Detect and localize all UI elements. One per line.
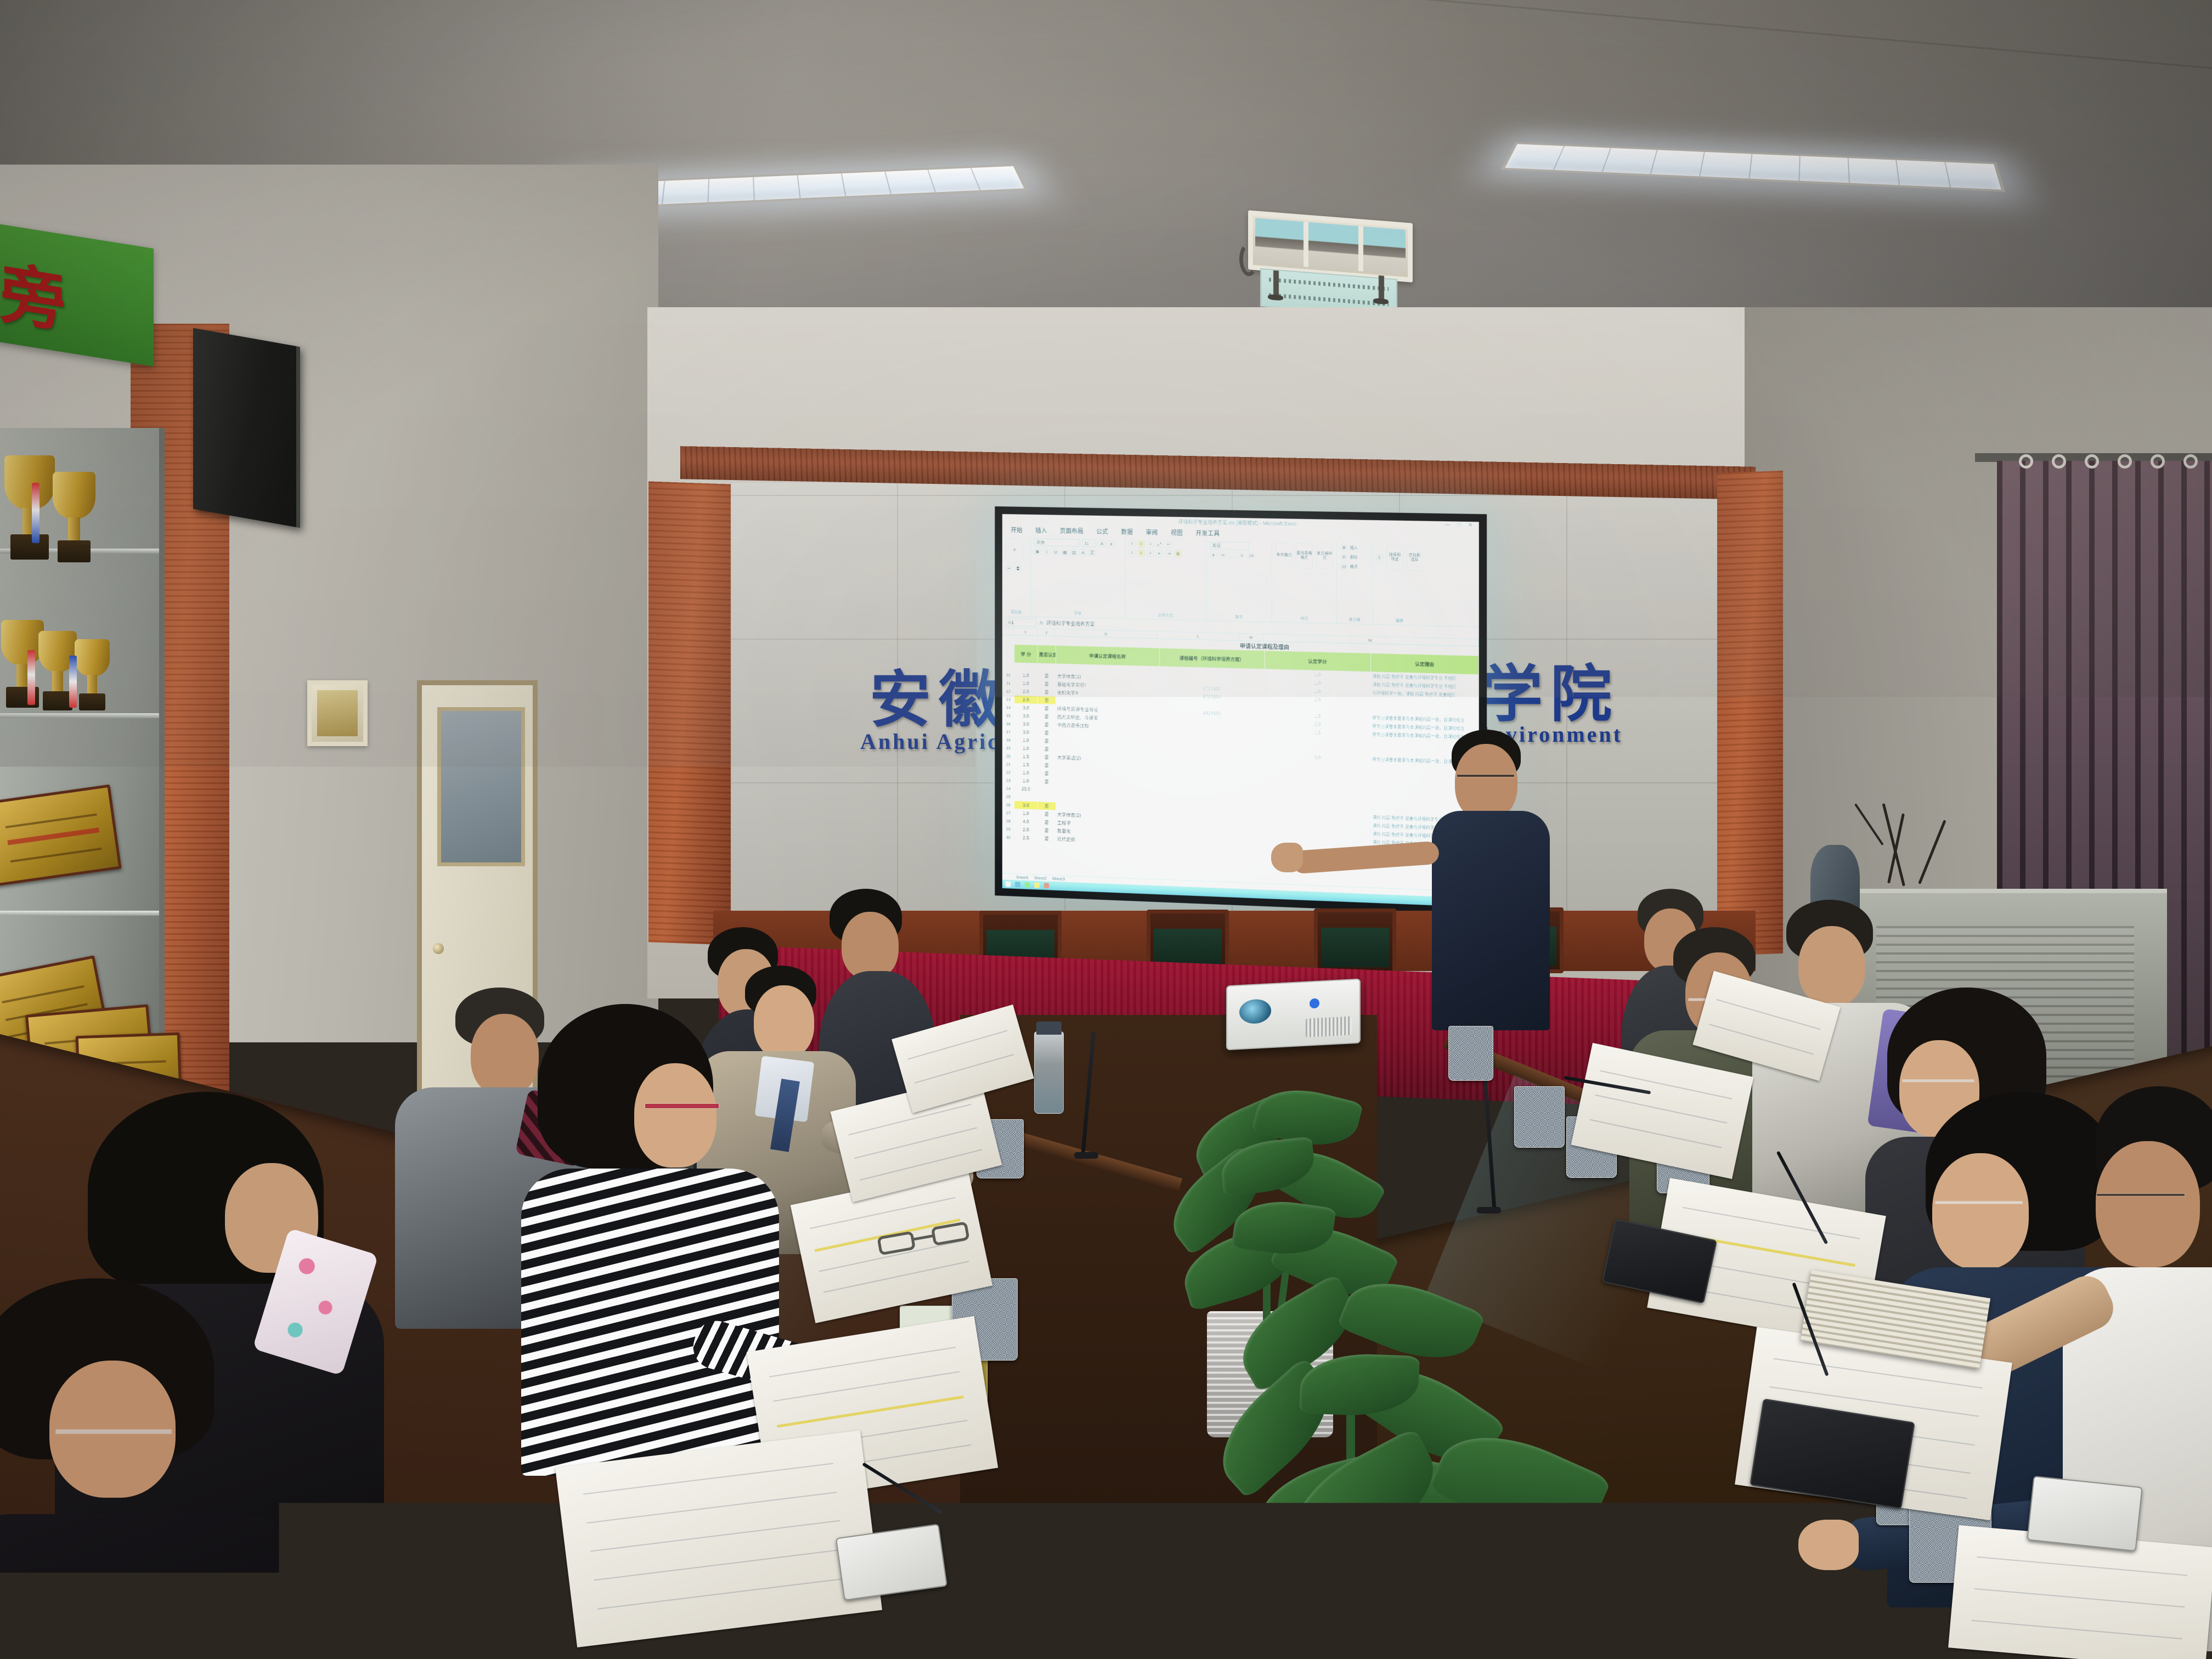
green-banner-text: 旁 (0, 240, 66, 346)
wood-column-center (648, 481, 731, 945)
excel-title-text: 环境科学专业培养方案.xls [兼容模式] - Microsoft Excel (1178, 518, 1296, 527)
col-header-M[interactable]: M (1239, 634, 1263, 641)
ribbon-group-styles: 条件格式 套用表格格式 单元格样式 样式 (1272, 540, 1338, 623)
increase-decimal-icon[interactable]: .0 (1238, 552, 1245, 559)
decrease-indent-icon[interactable]: ⇤ (1156, 550, 1163, 557)
paste-button[interactable]: A (1006, 538, 1024, 563)
find-select-button[interactable]: 查找和选择 (1407, 545, 1423, 571)
ribbon-tab-formula[interactable]: 公式 (1094, 526, 1110, 537)
trophy-ribbon-2 (27, 650, 35, 705)
trophy-5 (75, 639, 110, 710)
underline-icon[interactable]: U (1052, 549, 1059, 556)
trophy-ribbon-3 (69, 656, 77, 708)
ribbon-tab-view[interactable]: 视图 (1169, 527, 1185, 538)
decrease-decimal-icon[interactable]: .00 (1247, 552, 1254, 559)
wrap-text-icon[interactable]: ↵ (1165, 541, 1172, 548)
projector-power-indicator (1310, 998, 1319, 1009)
grow-font-icon[interactable]: A (1098, 540, 1105, 547)
attendee-red-glasses-icon (645, 1104, 719, 1108)
format-cells-label: 格式 (1350, 563, 1358, 569)
tabletop-projector (1226, 979, 1361, 1051)
projector-lens-icon (1239, 998, 1271, 1024)
ribbon-group-cells-label: 单元格 (1337, 617, 1372, 623)
border-icon[interactable]: ▦ (1062, 549, 1069, 556)
projector-vent (1306, 1016, 1352, 1037)
wall-sign-english-left: Anhui Agric (860, 729, 1000, 754)
currency-icon[interactable]: ¥ (1210, 551, 1217, 558)
presenter-glasses-icon (1457, 775, 1514, 777)
align-center-icon[interactable]: ≡ (1138, 550, 1145, 557)
door-knob-icon[interactable] (433, 943, 444, 954)
attendee-face (634, 1063, 716, 1167)
bold-icon[interactable]: B (1034, 548, 1041, 555)
font-size-box[interactable]: 11 (1082, 539, 1096, 547)
ribbon-group-styles-label: 样式 (1272, 615, 1337, 622)
ribbon-group-number-label: 数字 (1206, 614, 1272, 621)
cell-styles-button[interactable]: 单元格样式 (1316, 544, 1333, 569)
cut-icon[interactable]: ✂ (1006, 565, 1013, 572)
attendee-navy-hand (1798, 1520, 1859, 1570)
ribbon-tab-home[interactable]: 开始 (1009, 524, 1025, 535)
sheet-tab-3[interactable]: Sheet3 (1052, 876, 1065, 882)
ribbon-group-editing: Σ 排序和筛选 查找和选择 编辑 (1373, 541, 1426, 625)
phonetic-icon[interactable]: 文 (1089, 549, 1096, 556)
font-name-box[interactable]: 宋体 (1034, 538, 1080, 546)
shrink-font-icon[interactable]: a (1108, 540, 1115, 547)
trophy-1 (4, 455, 55, 560)
merge-cells-icon[interactable]: ⊞ (1175, 550, 1182, 557)
orientation-icon[interactable]: ⤢ (1156, 540, 1163, 548)
paper-cup-center (1448, 1026, 1493, 1081)
sheet-tab-1[interactable]: Sheet1 (1016, 874, 1029, 880)
smartphone-right-2[interactable] (2027, 1476, 2142, 1551)
col-course-code-header: 课程编号（环境科学培养方案） (1159, 648, 1264, 669)
align-bottom-icon[interactable]: ≡ (1147, 540, 1154, 548)
name-box[interactable]: A1 (1006, 618, 1036, 627)
ribbon-tab-dev[interactable]: 开发工具 (1194, 528, 1222, 539)
percent-icon[interactable]: % (1219, 551, 1226, 558)
ribbon-tab-data[interactable]: 数据 (1119, 526, 1135, 537)
taskbar-excel-icon[interactable] (1034, 882, 1040, 888)
bottle-cap (1036, 1022, 1062, 1035)
align-right-icon[interactable]: ≡ (1147, 550, 1154, 557)
wall-speaker (193, 328, 300, 528)
trophy-3 (1, 620, 44, 708)
ribbon-tab-review[interactable]: 审阅 (1144, 527, 1160, 538)
ribbon-group-clipboard-label: 剪贴板 (1002, 609, 1030, 615)
delete-cells-icon[interactable]: ⊟ (1340, 553, 1347, 560)
start-button-icon[interactable] (1006, 881, 1011, 887)
meeting-room-photo: 安徽农 Anhui Agric 学院 Environment 环境科学专业培养方… (0, 0, 2212, 1659)
ribbon-group-alignment: ≡ ≡ ≡ ⤢ ↵ ≡ ≡ ≡ ⇤ ⇥ ⊞ 对齐方式 (1125, 537, 1206, 620)
ribbon-group-clipboard: A ✂ ⧉ 剪贴板 (1002, 535, 1031, 616)
formula-bar-value[interactable]: 环境科学专业培养方案 (1046, 619, 1094, 628)
taskbar-app-icon[interactable] (1044, 883, 1049, 888)
font-color-icon[interactable]: A (1080, 549, 1087, 556)
fx-icon[interactable]: fx (1040, 620, 1043, 625)
col-reason-header: 认定理由 (1371, 653, 1479, 674)
window-controls[interactable]: — □ ✕ (1444, 522, 1475, 528)
wall-sign-chinese-right: 学院 (1481, 645, 1620, 733)
attendee-front-glasses-icon (56, 1430, 171, 1434)
align-middle-icon[interactable]: ≡ (1138, 540, 1145, 548)
insert-cells-icon[interactable]: ⊞ (1340, 544, 1347, 551)
taskbar-explorer-icon[interactable] (1025, 882, 1030, 888)
number-format-box[interactable]: 常规 (1210, 541, 1249, 550)
stage-chair-3 (1314, 909, 1396, 974)
microphone-base-2 (1477, 1207, 1501, 1214)
sheet-tab-2[interactable]: Sheet2 (1034, 876, 1047, 881)
col-confirm-header: 是否认定 (1037, 645, 1056, 664)
comma-icon[interactable]: , (1228, 552, 1235, 559)
paper-cup-right-1 (1514, 1086, 1565, 1148)
align-top-icon[interactable]: ≡ (1128, 540, 1136, 547)
ribbon-group-cells: ⊞ 插入 ⊟ 删除 ▤ 格式 单元格 (1337, 541, 1373, 624)
ribbon-group-editing-label: 编辑 (1373, 618, 1426, 624)
trophy-ribbon-1 (32, 483, 39, 543)
format-as-table-button[interactable]: 套用表格格式 (1296, 543, 1313, 569)
taskbar-ie-icon[interactable] (1015, 882, 1020, 887)
wood-column-right (1717, 471, 1783, 956)
presenter-hand (1271, 843, 1303, 872)
presenter-head (1455, 744, 1517, 821)
award-plaque-1 (0, 785, 122, 887)
ribbon-group-font-label: 字体 (1031, 610, 1125, 618)
attendee-striped-top (521, 1169, 779, 1476)
wall-plaque-small (307, 680, 368, 746)
insert-cells-label: 插入 (1350, 545, 1358, 550)
delete-cells-label: 删除 (1350, 554, 1358, 560)
document-left-3 (555, 1430, 882, 1647)
ribbon-group-alignment-label: 对齐方式 (1125, 612, 1206, 619)
increase-indent-icon[interactable]: ⇥ (1165, 550, 1172, 557)
door-window (437, 707, 525, 866)
ribbon-group-number: 常规 ¥ % , .0 .00 数字 (1206, 539, 1272, 622)
col-course-name-header: 申请认定课程名称 (1056, 645, 1159, 666)
col-header-I[interactable]: I (1014, 628, 1037, 635)
conditional-format-button[interactable]: 条件格式 (1276, 543, 1293, 568)
course-recognition-table: 申请认定课程及理由 学 分 是否认定 申请认定课程名称 课程编号（环境科学培养方… (1002, 635, 1479, 859)
ribbon-tab-insert[interactable]: 插入 (1033, 525, 1049, 536)
col-header-J[interactable]: J (1037, 629, 1056, 636)
ribbon-group-font: 宋体 11 A a B I U ▦ ▨ A 文 字体 (1031, 535, 1125, 618)
sort-filter-button[interactable]: 排序和筛选 (1386, 545, 1403, 571)
copy-icon[interactable]: ⧉ (1014, 565, 1022, 572)
fill-color-icon[interactable]: ▨ (1070, 549, 1077, 556)
align-left-icon[interactable]: ≡ (1128, 549, 1136, 556)
presenter-body (1432, 811, 1550, 1030)
trophy-2 (53, 472, 95, 562)
ribbon[interactable]: A ✂ ⧉ 剪贴板 宋体 11 A a B (1002, 535, 1479, 627)
format-cells-icon[interactable]: ▤ (1340, 563, 1347, 570)
ribbon-tab-layout[interactable]: 页面布局 (1058, 525, 1086, 537)
col-credit-given-header: 认定学分 (1265, 651, 1371, 672)
green-banner: 旁 (0, 223, 154, 366)
autosum-icon[interactable]: Σ (1376, 554, 1383, 561)
italic-icon[interactable]: I (1043, 548, 1051, 555)
col-credits-header: 学 分 (1014, 645, 1038, 664)
